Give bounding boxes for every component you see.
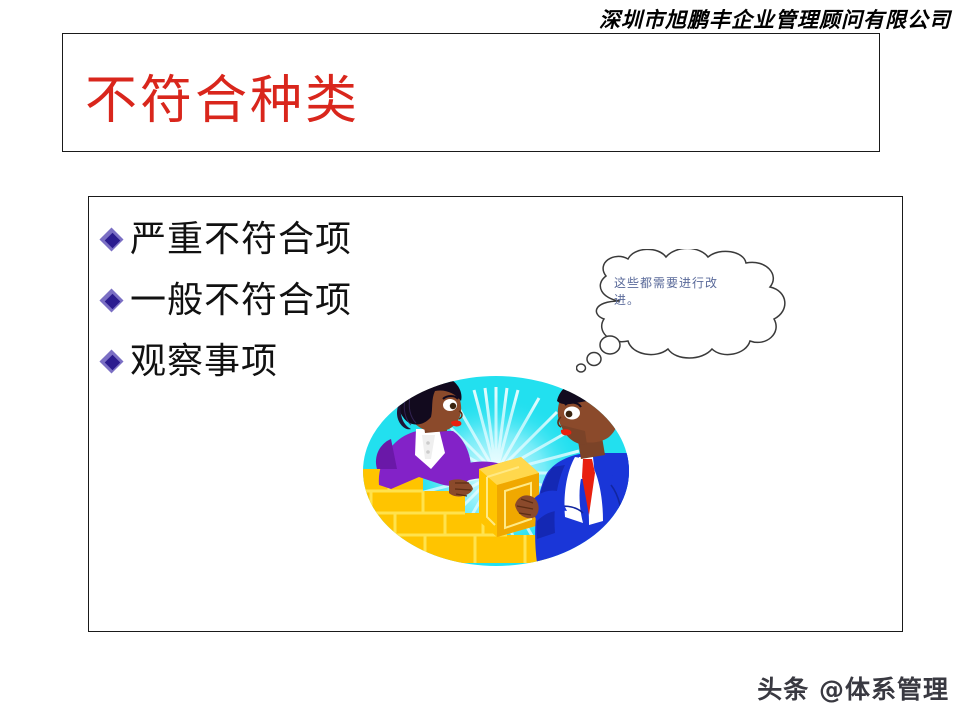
- list-item-label: 观察事项: [130, 342, 278, 382]
- list-item-label: 严重不符合项: [130, 220, 352, 260]
- list-item: 一般不符合项: [99, 270, 459, 331]
- list-item-label: 一般不符合项: [130, 281, 352, 321]
- bullet-list: 严重不符合项 一般不符合项 观察事项: [99, 209, 459, 392]
- list-item: 严重不符合项: [99, 209, 459, 270]
- content-box: 严重不符合项 一般不符合项 观察事项 这些都需要进行改 进。: [88, 196, 903, 632]
- page-title: 不符合种类: [85, 72, 360, 130]
- thought-bubble: 这些都需要进行改 进。: [576, 249, 806, 374]
- diamond-bullet-icon: [99, 288, 125, 314]
- title-box: 不符合种类: [62, 33, 880, 152]
- thought-bubble-text: 这些都需要进行改 进。: [614, 275, 742, 309]
- watermark: 头条 @体系管理: [757, 670, 949, 706]
- illustration-two-people-exchanging-brick: [361, 373, 631, 573]
- company-header: 深圳市旭鹏丰企业管理顾问有限公司: [599, 4, 951, 34]
- diamond-bullet-icon: [99, 349, 125, 375]
- diamond-bullet-icon: [99, 227, 125, 253]
